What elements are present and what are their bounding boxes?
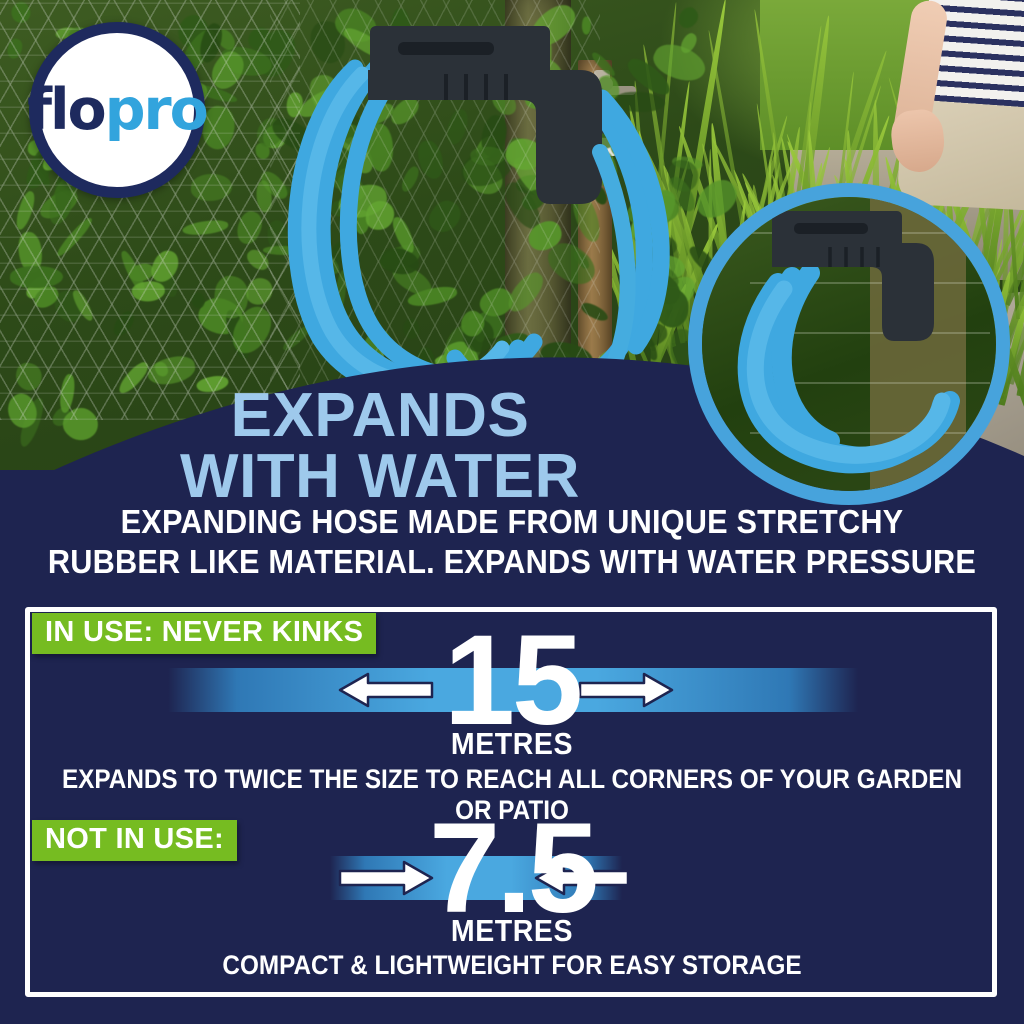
person-in-garden xyxy=(880,0,1024,205)
subheadline: EXPANDING HOSE MADE FROM UNIQUE STRETCHY… xyxy=(47,502,977,583)
subheadline-line-2: RUBBER LIKE MATERIAL. EXPANDS WITH WATER… xyxy=(47,542,977,582)
logo-text-flo: flo xyxy=(27,77,105,143)
logo-wordmark: flopro xyxy=(27,82,207,139)
length-value-expanded: 15 xyxy=(0,627,1024,735)
headline-line-2: WITH WATER xyxy=(0,447,760,508)
description-compact: COMPACT & LIGHTWEIGHT FOR EASY STORAGE xyxy=(51,950,973,981)
infographic-canvas: flopro EXPANDS WITH WATER EXPANDING HOSE… xyxy=(0,0,1024,1024)
subheadline-line-1: EXPANDING HOSE MADE FROM UNIQUE STRETCHY xyxy=(47,502,977,542)
length-value-compact: 7.5 xyxy=(0,815,1024,923)
headline-line-1: EXPANDS xyxy=(0,386,760,447)
flopro-logo: flopro xyxy=(29,22,205,198)
headline: EXPANDS WITH WATER xyxy=(0,386,760,508)
unit-label-expanded: METRES xyxy=(41,726,983,762)
logo-text-pro: pro xyxy=(105,77,207,143)
unit-label-compact: METRES xyxy=(41,913,983,949)
